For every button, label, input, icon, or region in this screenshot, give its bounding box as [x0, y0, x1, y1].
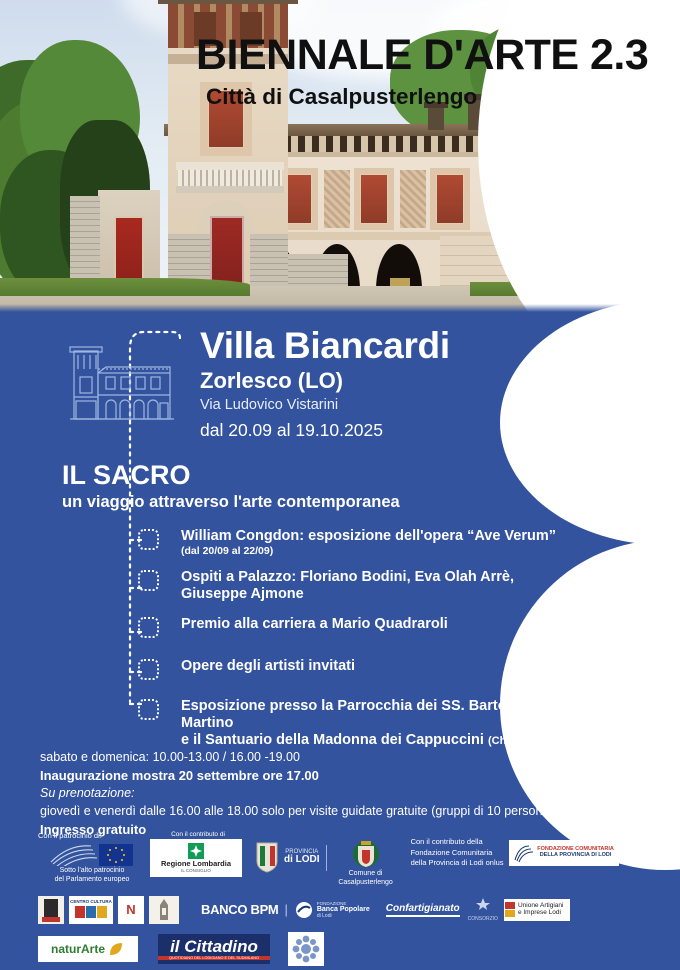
program-item-text: Ospiti a Palazzo: Floriano Bodini, Eva O… [181, 569, 514, 586]
program-item-text: Esposizione presso la Parrocchia dei SS.… [181, 698, 608, 732]
info-hours: sabato e domenica: 10.00-13.00 / 16.00 -… [40, 749, 640, 767]
sponsor-row-2: CENTRO CULTURA N BANCO BPM | [38, 896, 646, 924]
sponsor-il-cittadino: il Cittadino QUOTIDIANO DEL LODIGIANO E … [158, 934, 270, 964]
program-item-text-line2: e il Santuario della Madonna dei Cappucc… [181, 732, 608, 749]
list-item: Premio alla carriera a Mario Quadraroli [138, 616, 608, 638]
bullet-icon [138, 529, 159, 550]
comune-caption: Comune di Casalpusterlengo [333, 870, 399, 888]
list-item: Opere degli artisti invitati [138, 658, 608, 680]
fondazione-comunitaria-icon [513, 843, 535, 863]
list-item: Ospiti a Palazzo: Floriano Bodini, Eva O… [138, 569, 608, 603]
program-item-text-line2: Giuseppe Ajmone [181, 586, 514, 603]
swoosh-decoration-top [500, 300, 680, 545]
info-booking-label: Su prenotazione: [40, 785, 640, 803]
banco-bpm-label: BANCO BPM [201, 902, 278, 917]
bullet-icon [138, 617, 159, 638]
program-item-text: Opere degli artisti invitati [181, 658, 355, 675]
page-title: BIENNALE D'ARTE 2.3 [196, 34, 666, 77]
sponsor-regione: Con il contributo di Regione Lombardia I… [150, 831, 246, 877]
provincia-lodi-crest [254, 841, 280, 873]
sponsor-museo [38, 896, 64, 924]
european-parliament-logo [49, 842, 135, 866]
fondazione-caption: Con il contributo della Fondazione Comun… [411, 837, 504, 869]
regione-lombardia-label: Regione Lombardia [161, 860, 231, 868]
bullet-icon [138, 699, 159, 720]
photo-bottom-fade [0, 304, 680, 312]
eu-caption: Sotto l'alto patrocinio del Parlamento e… [38, 867, 146, 885]
naturarte-label: naturArte [51, 942, 105, 956]
sponsor-fondazione: Con il contributo della Fondazione Comun… [411, 837, 619, 869]
list-item: William Congdon: esposizione dell'opera … [138, 528, 608, 558]
program-item-text: Premio alla carriera a Mario Quadraroli [181, 616, 448, 633]
regione-lombardia-sub: IL CONSIGLIO [181, 868, 211, 873]
banca-popolare-sub: di Lodi [317, 913, 370, 919]
venue-block: Villa Biancardi Zorlesco (LO) Via Ludovi… [200, 327, 450, 439]
sponsor-noi: N [118, 896, 144, 924]
noi-label: N [126, 903, 135, 917]
title-block: BIENNALE D'ARTE 2.3 Città di Casalpuster… [196, 34, 666, 109]
theme-block: IL SACRO un viaggio attraverso l'arte co… [62, 462, 400, 511]
poster-root: BIENNALE D'ARTE 2.3 Città di Casalpuster… [0, 0, 680, 970]
consorzio-label: CONSORZIO [468, 916, 498, 922]
banca-popolare-icon [294, 901, 314, 919]
comune-casalpusterlengo-crest [351, 837, 381, 869]
sponsor-eu: Con il patrocinio di: [38, 831, 146, 885]
sponsor-confartigianato: Confartigianato [386, 903, 460, 917]
info-opening: Inaugurazione mostra 20 settembre ore 17… [40, 767, 640, 785]
contribution-label: Con il contributo di [150, 831, 246, 839]
program-item-note: (dal 20/09 al 22/09) [181, 545, 556, 558]
naturarte-leaf-icon [107, 940, 125, 958]
sponsor-provincia: PROVINCIA di LODI [254, 841, 320, 873]
sponsor-unione-artigiani: Unione Artigiani e Imprese Lodi [504, 899, 570, 921]
rosette-crest-logo [290, 934, 322, 964]
program-item-text-line2-main: e il Santuario della Madonna dei Cappucc… [181, 732, 484, 748]
sponsor-row-1: Con il patrocinio di: [38, 831, 646, 888]
program-item-text: William Congdon: esposizione dell'opera … [181, 528, 556, 545]
villa-line-art-icon [62, 333, 180, 431]
venue-dates: dal 20.09 al 19.10.2025 [200, 422, 450, 440]
bullet-icon [138, 659, 159, 680]
provincia-label2: di LODI [284, 855, 320, 866]
sponsor-rosette [288, 932, 324, 966]
theme-title: IL SACRO [62, 462, 400, 489]
sponsor-banco-bpm: BANCO BPM | FONDAZIONE Banca Popolare di… [201, 901, 370, 919]
sponsor-logos: Con il patrocinio di: [38, 831, 646, 966]
banca-popolare-label: Banca Popolare [317, 906, 370, 913]
sponsor-row-3: naturArte il Cittadino QUOTIDIANO DEL LO… [38, 932, 646, 966]
sponsor-comune: Comune di Casalpusterlengo [333, 837, 399, 888]
sponsor-tower [149, 896, 179, 924]
venue-street: Via Ludovico Vistarini [200, 398, 450, 413]
venue-city: Zorlesco (LO) [200, 370, 450, 392]
confartigianato-label: Confartigianato [386, 903, 460, 914]
consorzio-icon [475, 897, 491, 911]
list-item: Esposizione presso la Parrocchia dei SS.… [138, 698, 608, 749]
cittadino-sub: QUOTIDIANO DEL LODIGIANO E DEL SUDMILANO [158, 956, 270, 960]
program-item-inline-note: (Chiesa Giubilare) [488, 735, 582, 747]
patronage-label: Con il patrocinio di: [38, 831, 146, 840]
info-booking-detail: giovedì e venerdì dalle 16.00 alle 18.00… [40, 803, 640, 821]
theme-subtitle: un viaggio attraverso l'arte contemporan… [62, 494, 400, 511]
sponsor-consorzio: CONSORZIO [468, 897, 498, 922]
fondazione-label2: DELLA PROVINCIA DI LODI [537, 853, 614, 859]
sponsor-naturarte: naturArte [38, 936, 138, 962]
cittadino-label: il Cittadino [170, 938, 258, 955]
page-subtitle: Città di Casalpusterlengo [206, 86, 666, 109]
lombardia-rose-icon [188, 843, 204, 859]
unione-label2: e Imprese Lodi [518, 910, 564, 917]
sponsor-centro-cultura: CENTRO CULTURA [69, 896, 113, 924]
bullet-icon [138, 570, 159, 591]
program-list: William Congdon: esposizione dell'opera … [138, 528, 608, 760]
venue-name: Villa Biancardi [200, 327, 450, 364]
info-block: sabato e domenica: 10.00-13.00 / 16.00 -… [40, 749, 640, 839]
